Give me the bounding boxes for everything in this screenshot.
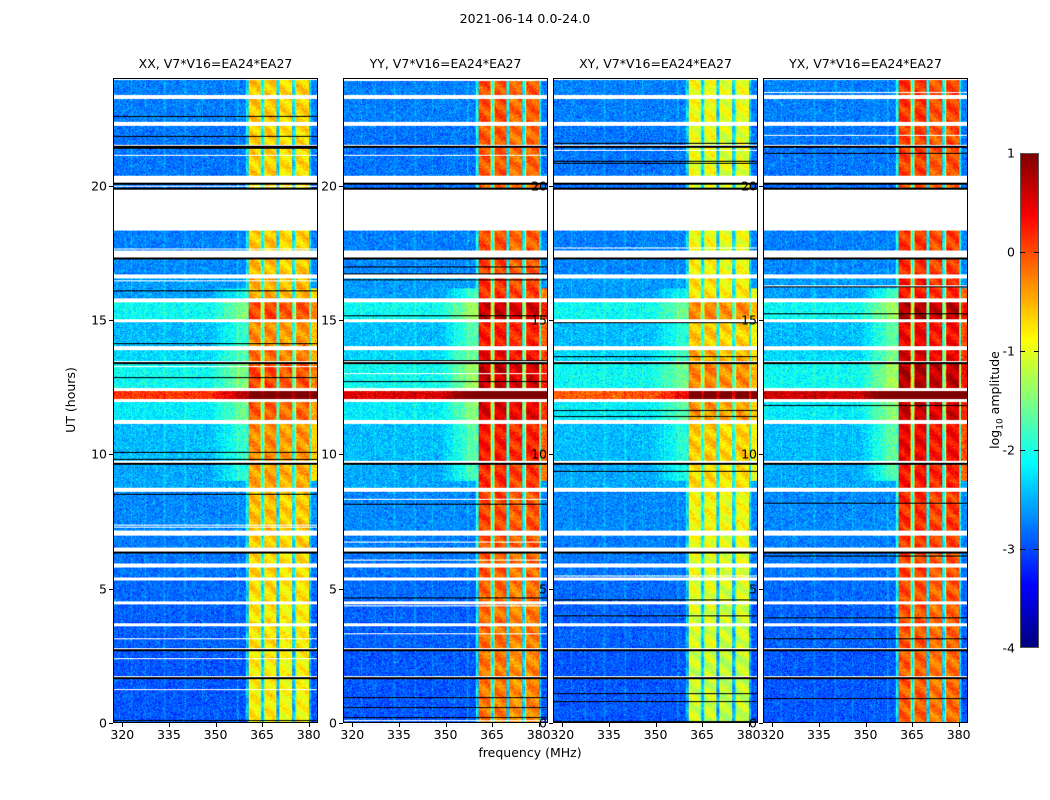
colorbar-tick-label: -2 (1003, 443, 1015, 458)
y-tick-mark (759, 186, 763, 187)
y-tick-label: 20 (321, 178, 337, 193)
y-tick-label: 15 (741, 312, 757, 327)
x-tick-label: 380 (737, 727, 761, 742)
x-tick-label: 335 (387, 727, 411, 742)
panel-xx: XX, V7*V16=EA24*EA27 (113, 78, 318, 723)
panel-title-yy: YY, V7*V16=EA24*EA27 (370, 56, 522, 71)
x-tick-label: 320 (340, 727, 364, 742)
colorbar-tick-label: -4 (1003, 641, 1015, 656)
y-tick-mark (339, 320, 343, 321)
y-tick-mark (109, 186, 113, 187)
y-tick-label: 20 (531, 178, 547, 193)
y-tick-mark (549, 320, 553, 321)
colorbar-tick-label: -1 (1003, 344, 1015, 359)
x-tick-label: 320 (550, 727, 574, 742)
y-tick-mark (549, 454, 553, 455)
panel-yx: YX, V7*V16=EA24*EA27 (763, 78, 968, 723)
x-tick-label: 350 (434, 727, 458, 742)
x-tick-label: 335 (597, 727, 621, 742)
x-tick-label: 365 (250, 727, 274, 742)
y-tick-mark (339, 454, 343, 455)
y-tick-mark (759, 320, 763, 321)
panel-yy: YY, V7*V16=EA24*EA27 (343, 78, 548, 723)
y-tick-mark (109, 454, 113, 455)
colorbar-tick-mark (1020, 549, 1025, 550)
x-tick-label: 350 (644, 727, 668, 742)
y-tick-mark (109, 589, 113, 590)
axes-xx[interactable] (113, 78, 318, 723)
figure-canvas: 2021-06-14 0.0-24.0 XX, V7*V16=EA24*EA27… (0, 0, 1050, 800)
y-tick-label: 5 (749, 581, 757, 596)
colorbar-tick-mark (1034, 252, 1039, 253)
x-axis-label: frequency (MHz) (113, 745, 947, 760)
x-tick-label: 320 (110, 727, 134, 742)
colorbar-tick-label: -3 (1003, 542, 1015, 557)
x-tick-label: 320 (760, 727, 784, 742)
y-tick-mark (549, 186, 553, 187)
x-tick-label: 365 (900, 727, 924, 742)
colorbar-label-suffix: amplitude (987, 351, 1002, 418)
y-axis-label: UT (hours) (63, 367, 78, 433)
y-tick-label: 10 (91, 447, 107, 462)
panel-xy: XY, V7*V16=EA24*EA27 (553, 78, 758, 723)
y-tick-label: 15 (91, 312, 107, 327)
x-tick-label: 335 (807, 727, 831, 742)
panel-title-yx: YX, V7*V16=EA24*EA27 (789, 56, 942, 71)
colorbar[interactable] (1020, 153, 1039, 648)
x-tick-label: 350 (204, 727, 228, 742)
y-tick-mark (339, 589, 343, 590)
y-tick-mark (339, 723, 343, 724)
y-tick-label: 20 (91, 178, 107, 193)
y-tick-mark (759, 589, 763, 590)
y-tick-mark (109, 320, 113, 321)
x-tick-label: 380 (947, 727, 971, 742)
panel-title-xy: XY, V7*V16=EA24*EA27 (579, 56, 732, 71)
y-tick-mark (549, 589, 553, 590)
colorbar-label-sub: 10 (995, 418, 1005, 429)
x-tick-label: 380 (297, 727, 321, 742)
colorbar-tick-mark (1034, 450, 1039, 451)
colorbar-tick-mark (1034, 351, 1039, 352)
y-tick-mark (109, 723, 113, 724)
y-axis-label-wrap: UT (hours) (92, 0, 93, 800)
x-tick-label: 365 (690, 727, 714, 742)
colorbar-tick-mark (1034, 549, 1039, 550)
colorbar-tick-mark (1020, 450, 1025, 451)
colorbar-tick-mark (1020, 252, 1025, 253)
x-tick-label: 380 (527, 727, 551, 742)
y-tick-label: 10 (741, 447, 757, 462)
y-tick-mark (549, 723, 553, 724)
colorbar-label-prefix: log (987, 430, 1002, 449)
y-tick-label: 20 (741, 178, 757, 193)
y-tick-label: 5 (99, 581, 107, 596)
y-tick-label: 0 (99, 716, 107, 731)
y-tick-label: 0 (329, 716, 337, 731)
y-tick-label: 5 (539, 581, 547, 596)
y-tick-label: 10 (531, 447, 547, 462)
panel-title-xx: XX, V7*V16=EA24*EA27 (139, 56, 293, 71)
x-tick-label: 350 (854, 727, 878, 742)
figure-suptitle: 2021-06-14 0.0-24.0 (0, 11, 1050, 26)
axes-yy[interactable] (343, 78, 548, 723)
colorbar-tick-label: 1 (1007, 146, 1015, 161)
y-tick-label: 15 (531, 312, 547, 327)
x-tick-label: 335 (157, 727, 181, 742)
axes-xy[interactable] (553, 78, 758, 723)
colorbar-tick-label: 0 (1007, 245, 1015, 260)
axes-yx[interactable] (763, 78, 968, 723)
y-tick-mark (759, 723, 763, 724)
y-tick-label: 15 (321, 312, 337, 327)
y-tick-label: 10 (321, 447, 337, 462)
x-tick-label: 365 (480, 727, 504, 742)
colorbar-label: log10 amplitude (987, 351, 1006, 449)
colorbar-tick-mark (1020, 351, 1025, 352)
y-tick-label: 5 (329, 581, 337, 596)
y-tick-mark (759, 454, 763, 455)
y-tick-mark (339, 186, 343, 187)
